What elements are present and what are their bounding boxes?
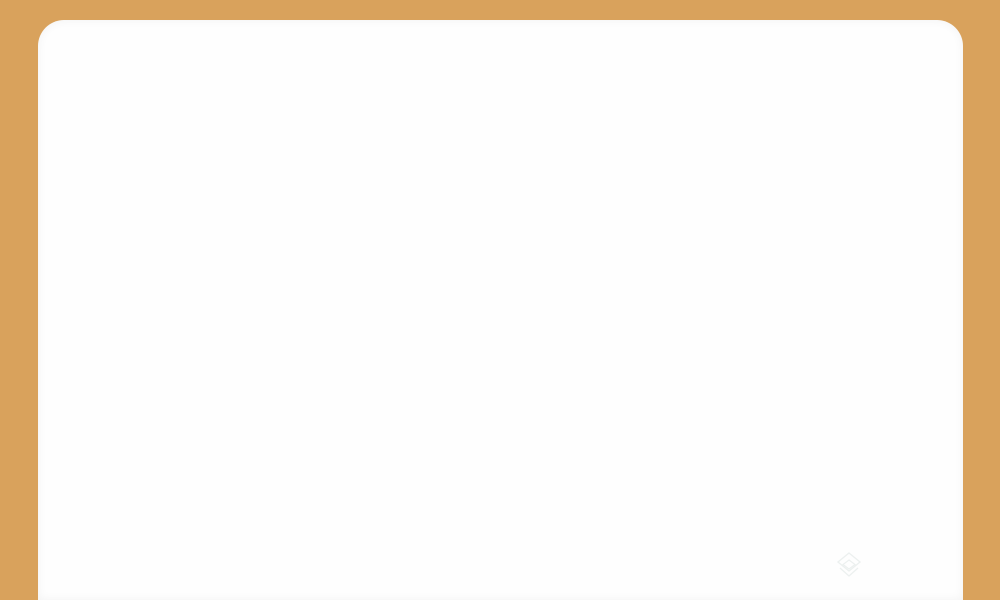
white-card [38,20,963,600]
watermark [836,551,877,581]
slide-canvas [0,0,1000,600]
diamond-icon [836,551,862,581]
